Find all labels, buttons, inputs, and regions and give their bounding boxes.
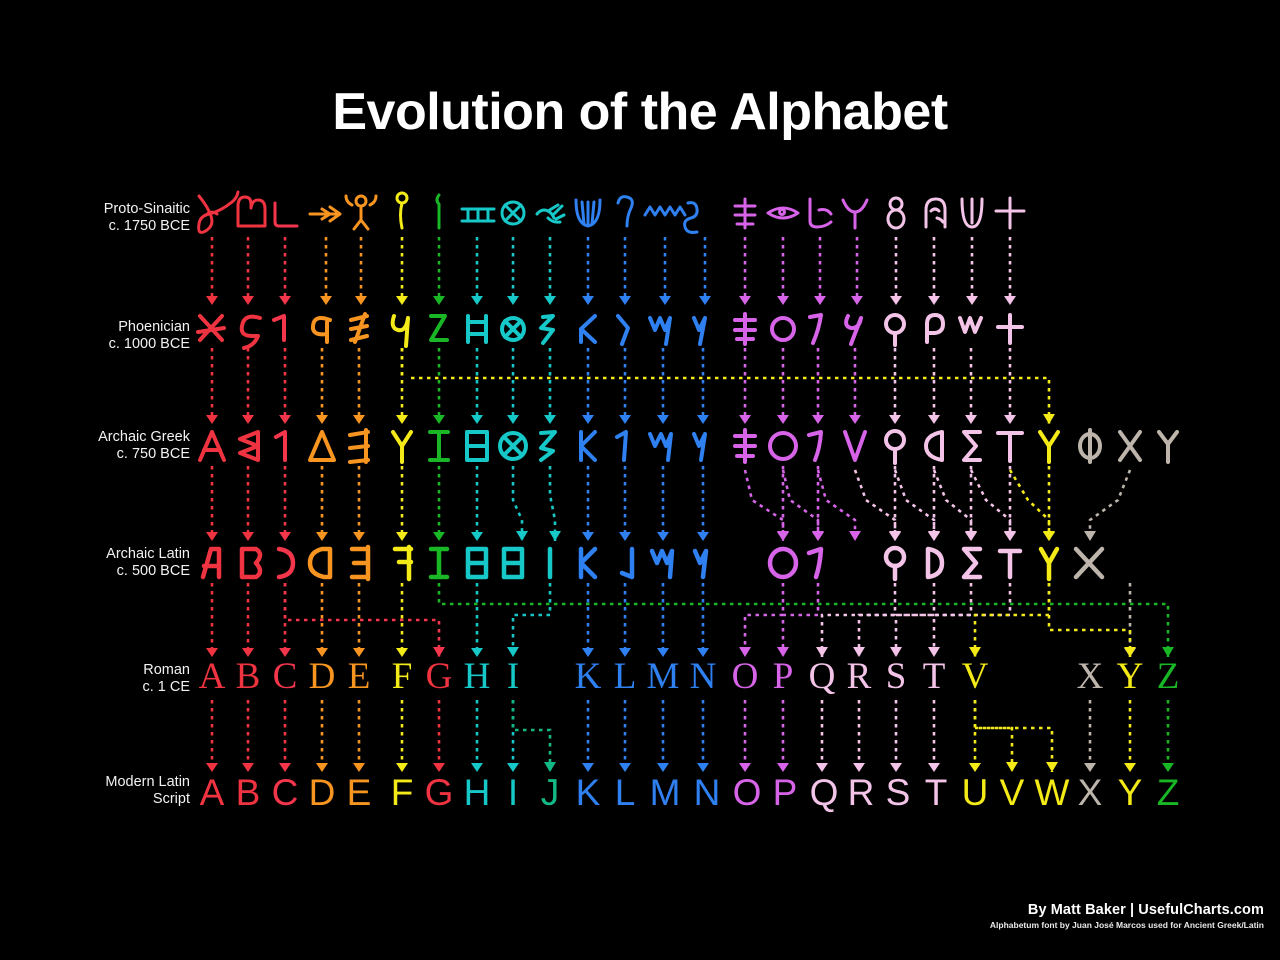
glyph-roman-O: O (725, 658, 765, 695)
glyph-roman-T: T (914, 658, 954, 695)
glyph-roman-R: R (839, 658, 879, 695)
glyph-latin-D-reversed (310, 549, 330, 577)
glyph-latin-F-reversed (395, 547, 411, 579)
glyph-latin-T (1000, 551, 1020, 577)
glyph-roman-Z: Z (1148, 658, 1188, 695)
glyph-modern-latin-U: U (955, 774, 995, 811)
glyph-roman-E: E (339, 658, 379, 695)
glyph-latin-Z-as-I (431, 549, 447, 577)
glyph-latin-R (928, 549, 942, 577)
glyph-modern-latin-D: D (302, 774, 342, 811)
glyph-roman-N: N (683, 658, 723, 695)
glyph-roman-I: I (493, 658, 533, 695)
glyph-roman-D: D (302, 658, 342, 695)
glyph-latin-K (581, 549, 595, 577)
infographic-canvas: Evolution of the Alphabet Proto-Sinaitic… (0, 0, 1280, 960)
glyph-modern-latin-E: E (339, 774, 379, 811)
glyph-latin-M (652, 551, 672, 577)
glyph-latin-C-reversed (279, 549, 293, 577)
glyph-roman-S: S (876, 658, 916, 695)
glyph-roman-B: B (228, 658, 268, 695)
credit-author: By Matt Baker | UsefulCharts.com (990, 902, 1264, 918)
glyph-modern-latin-I: I (493, 774, 533, 811)
credit-font-note: Alphabetum font by Juan José Marcos used… (990, 920, 1264, 930)
glyph-latin-H (468, 549, 486, 577)
glyph-modern-latin-T: T (916, 774, 956, 811)
glyph-modern-latin-X: X (1070, 774, 1110, 811)
glyph-roman-Y: Y (1110, 658, 1150, 695)
glyph-modern-latin-K: K (568, 774, 608, 811)
glyph-latin-E-reversed (352, 547, 368, 579)
glyph-latin-V (1041, 549, 1057, 579)
glyph-roman-K: K (568, 658, 608, 695)
glyph-modern-latin-J: J (530, 774, 570, 811)
glyph-roman-X: X (1070, 658, 1110, 695)
glyph-modern-latin-A: A (192, 774, 232, 811)
glyph-modern-latin-M: M (645, 774, 685, 811)
glyph-latin-theta (504, 549, 522, 577)
glyph-modern-latin-H: H (457, 774, 497, 811)
glyph-roman-L: L (605, 658, 645, 695)
glyph-latin-A (203, 549, 219, 577)
glyph-latin-O (770, 549, 796, 577)
glyph-latin-X (1076, 549, 1102, 577)
glyph-roman-H: H (457, 658, 497, 695)
glyph-modern-latin-S: S (878, 774, 918, 811)
glyph-modern-latin-L: L (605, 774, 645, 811)
glyph-modern-latin-G: G (419, 774, 459, 811)
glyph-latin-P (809, 549, 821, 577)
glyph-modern-latin-Z: Z (1148, 774, 1188, 811)
glyph-modern-latin-R: R (841, 774, 881, 811)
glyph-roman-F: F (382, 658, 422, 695)
glyph-roman-Q: Q (802, 658, 842, 695)
glyph-latin-Q (886, 548, 904, 579)
glyph-modern-latin-Q: Q (804, 774, 844, 811)
archaic-latin-glyph-row (0, 0, 1280, 960)
glyph-latin-N (695, 551, 706, 577)
glyph-modern-latin-N: N (687, 774, 727, 811)
glyph-roman-A: A (192, 658, 232, 695)
glyph-modern-latin-C: C (265, 774, 305, 811)
glyph-modern-latin-O: O (727, 774, 767, 811)
glyph-modern-latin-F: F (382, 774, 422, 811)
glyph-roman-C: C (265, 658, 305, 695)
glyph-roman-V: V (955, 658, 995, 695)
glyph-latin-B (242, 549, 260, 577)
glyph-modern-latin-P: P (765, 774, 805, 811)
glyph-modern-latin-Y: Y (1110, 774, 1150, 811)
credit-block: By Matt Baker | UsefulCharts.com Alphabe… (990, 902, 1264, 930)
glyph-modern-latin-V: V (992, 774, 1032, 811)
glyph-modern-latin-B: B (228, 774, 268, 811)
glyph-roman-P: P (763, 658, 803, 695)
glyph-latin-S (964, 549, 980, 577)
glyph-roman-G: G (419, 658, 459, 695)
glyph-modern-latin-W: W (1032, 774, 1072, 811)
glyph-latin-L (622, 549, 632, 577)
glyph-roman-M: M (643, 658, 683, 695)
